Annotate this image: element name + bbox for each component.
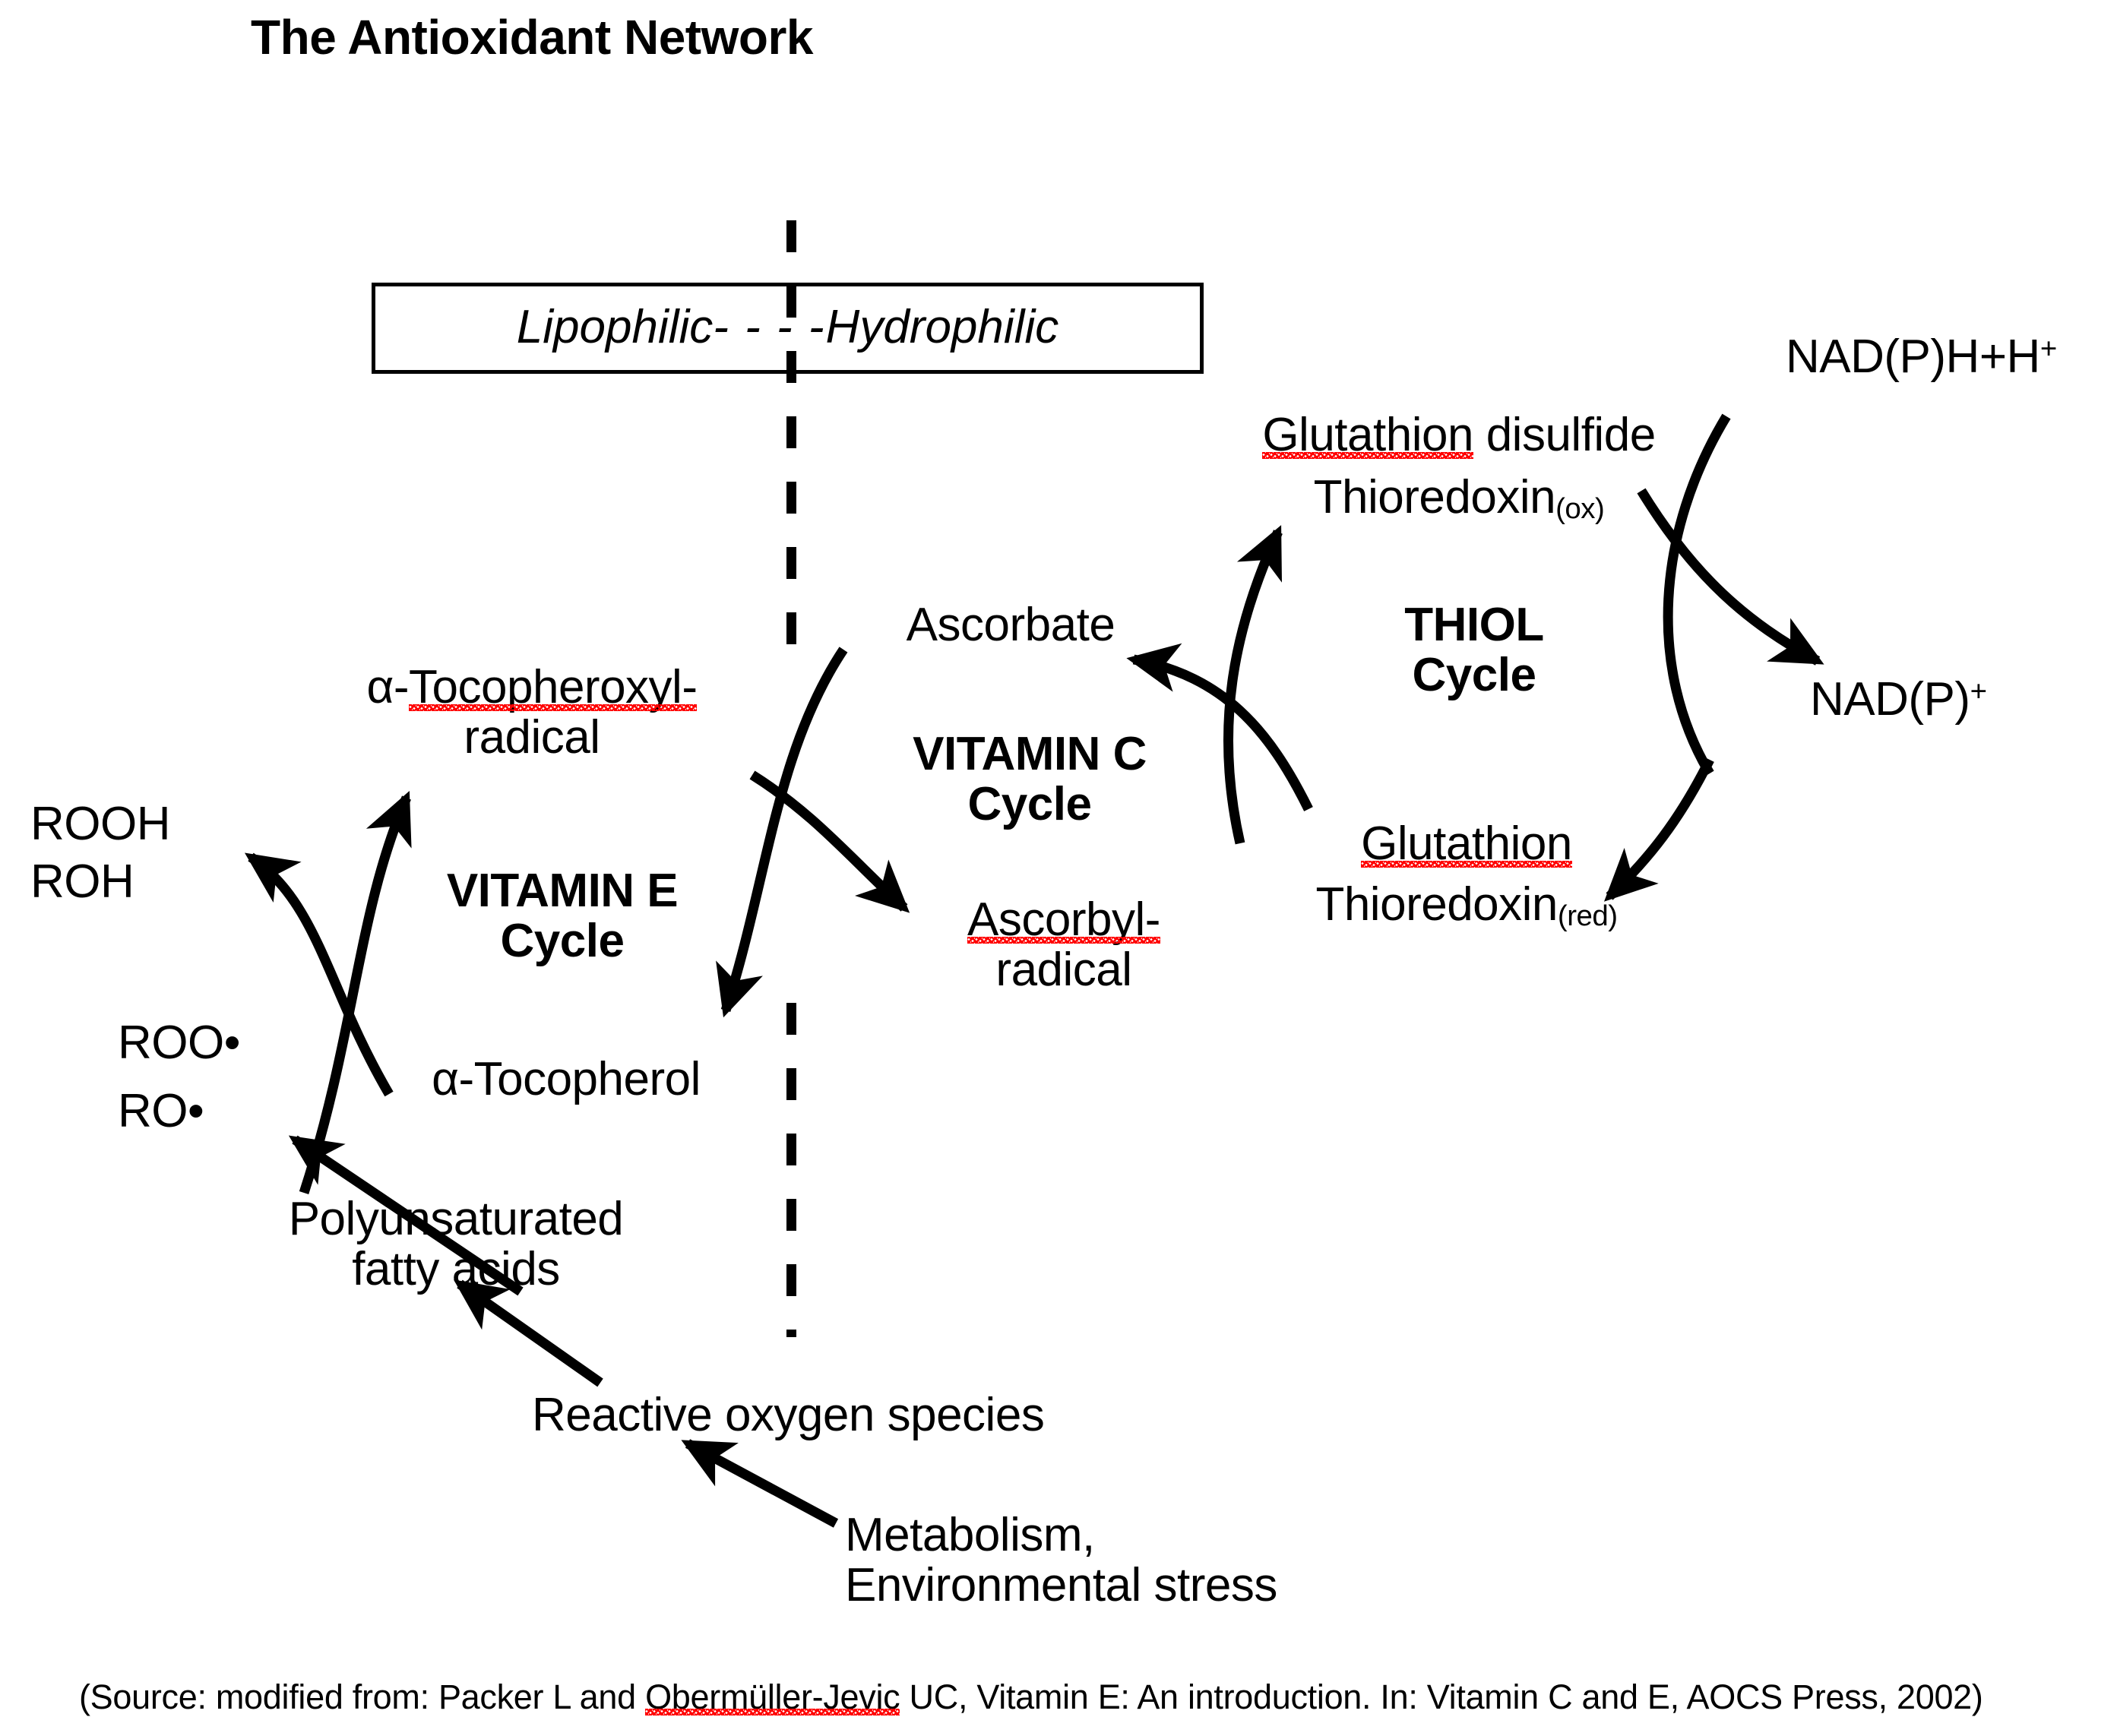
cycle-vitamin-e: VITAMIN ECycle [350,866,775,966]
species-nadph: NAD(P)H+H+ [1786,332,2057,382]
cycle-vitamin-e-line2: Cycle [501,915,625,967]
nadph-superscript: + [2040,333,2057,365]
thioredoxin-red-subscript: (red) [1558,900,1618,932]
species-tocopherol: α-Tocopherol [353,1055,779,1105]
membrane-legend-label: Lipophilic- - - -Hydrophilic [372,300,1204,354]
species-glutathion: Glutathion [1178,819,1755,869]
arrow-ros-to-pufa [460,1284,600,1383]
cycle-vitamin-c-line1: VITAMIN C [913,728,1147,780]
species-ascorbate: Ascorbate [813,600,1208,650]
species-nadp: NAD(P)+ [1810,675,1987,725]
metabolism-line1: Metabolism, [845,1509,1095,1561]
thioredoxin-ox-name: Thioredoxin [1314,471,1555,523]
thioredoxin-ox-subscript: (ox) [1555,492,1604,525]
species-glutathion-disulfide: Glutathion disulfide [1170,410,1748,460]
species-tocopheroxyl-radical: α-Tocopheroxyl-radical [289,662,775,762]
ascorbyl-radical-line2: radical [995,944,1131,996]
source-citation: (Source: modified from: Packer L and Obe… [79,1678,1983,1717]
nadp-superscript: + [1970,675,1987,708]
source-author-misspelled: Obermüller-Jevic [645,1678,900,1717]
glutathion-disulfide-word: Glutathion [1262,410,1473,460]
diagram-canvas: The Antioxidant Network Lipophilic- - - … [0,0,2117,1736]
arrow-layer [0,0,2117,1736]
page-title: The Antioxidant Network [0,9,1064,65]
species-thioredoxin-red: Thioredoxin(red) [1178,880,1755,932]
hydrophilic-label: Hydrophilic [826,301,1059,353]
species-thioredoxin-ox: Thioredoxin(ox) [1170,473,1748,525]
glutathion-disulfide-rest: disulfide [1473,409,1656,461]
nadp-text: NAD(P) [1810,673,1970,726]
ascorbyl-word: Ascorbyl- [967,895,1160,945]
species-roo-radical: ROO• [118,1018,240,1068]
cycle-vitamin-c-line2: Cycle [968,778,1092,830]
curve-nadph-to-glutathion [1668,416,1726,773]
membrane-separator: - - - - [713,301,825,353]
thioredoxin-red-name: Thioredoxin [1315,878,1557,931]
arrow-to-tocopheroxyl-radical [304,798,407,1193]
tocopheroxyl-radical-line2: radical [464,711,600,764]
glutathion-word: Glutathion [1361,819,1572,869]
pufa-line2: fatty acids [352,1243,560,1295]
cycle-thiol-line2: Cycle [1413,649,1536,701]
species-ros: Reactive oxygen species [532,1390,1044,1440]
species-metabolism: Metabolism,Environmental stress [845,1510,1277,1610]
lipophilic-label: Lipophilic [517,301,714,353]
cycle-vitamin-c: VITAMIN CCycle [817,729,1242,829]
tocopheroxyl-prefix: α- [367,661,410,713]
tocopheroxyl-word: Tocopheroxyl- [409,662,697,713]
metabolism-line2: Environmental stress [845,1559,1277,1611]
pufa-line1: Polyunsaturated [289,1193,624,1245]
arrow-metabolism-to-ros [688,1444,836,1523]
cycle-thiol-line1: THIOL [1404,599,1543,651]
species-pufa: Polyunsaturatedfatty acids [190,1194,722,1294]
cycle-vitamin-e-line1: VITAMIN E [447,865,678,917]
species-roh: ROH [30,857,134,907]
nadph-text: NAD(P)H+H [1786,330,2040,383]
cycle-thiol: THIOLCycle [1277,600,1672,700]
membrane-divider-lower [786,1003,796,1337]
species-rooh: ROOH [30,799,170,849]
species-ro-radical: RO• [118,1086,204,1137]
